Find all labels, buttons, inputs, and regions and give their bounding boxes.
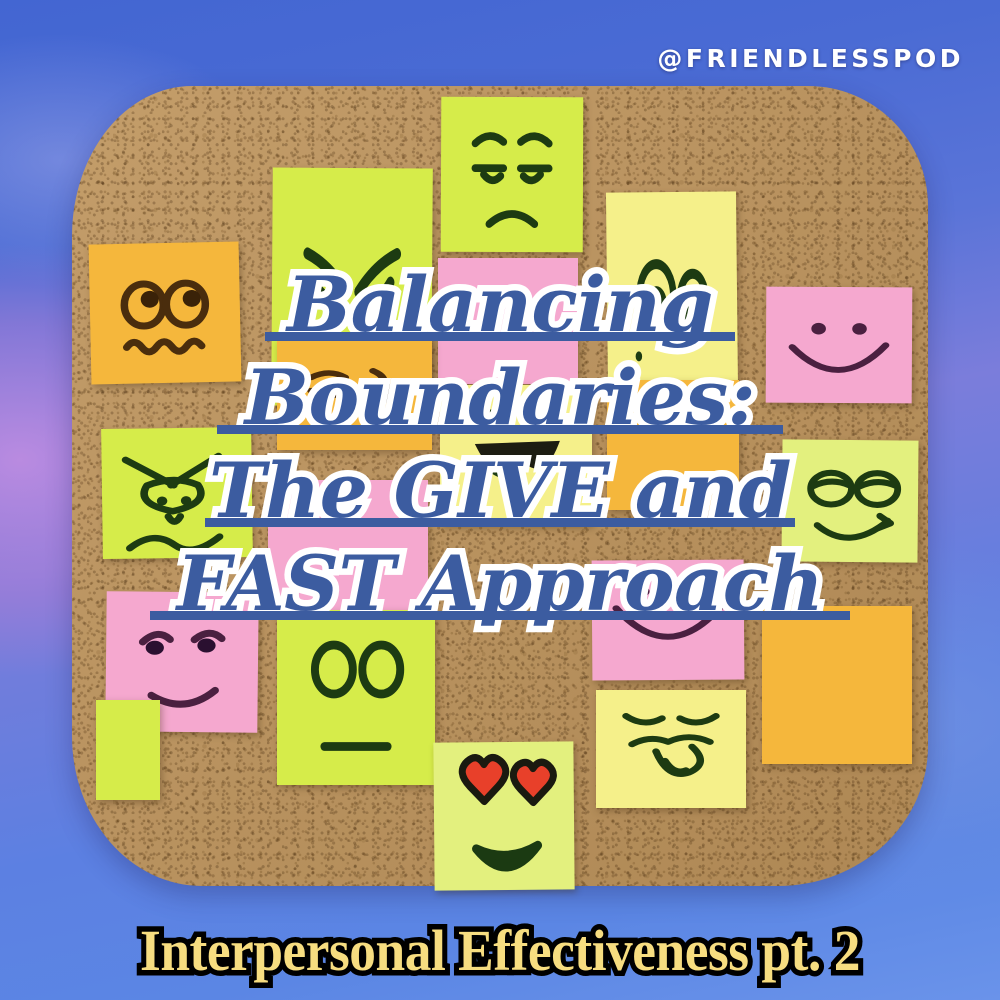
title-underline-4	[150, 611, 850, 620]
note-hearts	[433, 741, 574, 890]
title-underline-3	[205, 518, 795, 527]
face-tongue-out-icon	[596, 690, 746, 808]
title-underline-1	[265, 332, 735, 341]
title-underline-2	[217, 425, 783, 434]
poster-title: Balancing Boundaries: The GIVE and FAST …	[0, 262, 1000, 634]
note-lime-unimpressed	[441, 97, 584, 252]
face-heart-eyes-smile-icon	[433, 741, 574, 890]
note-yellow-tongue	[596, 690, 746, 808]
face-flat-mouth-icon	[277, 610, 435, 785]
footer-subtitle: Interpersonal Effectiveness pt. 2	[40, 917, 960, 984]
social-handle: @FRIENDLESSPOD	[657, 44, 964, 73]
face-blank-icon	[96, 700, 160, 800]
poster-canvas: @FRIENDLESSPOD Balancing Boundaries: The…	[0, 0, 1000, 1000]
face-unimpressed-flat-icon	[441, 97, 584, 252]
note-green-flat	[277, 610, 435, 785]
note-green-left-strip	[96, 700, 160, 800]
